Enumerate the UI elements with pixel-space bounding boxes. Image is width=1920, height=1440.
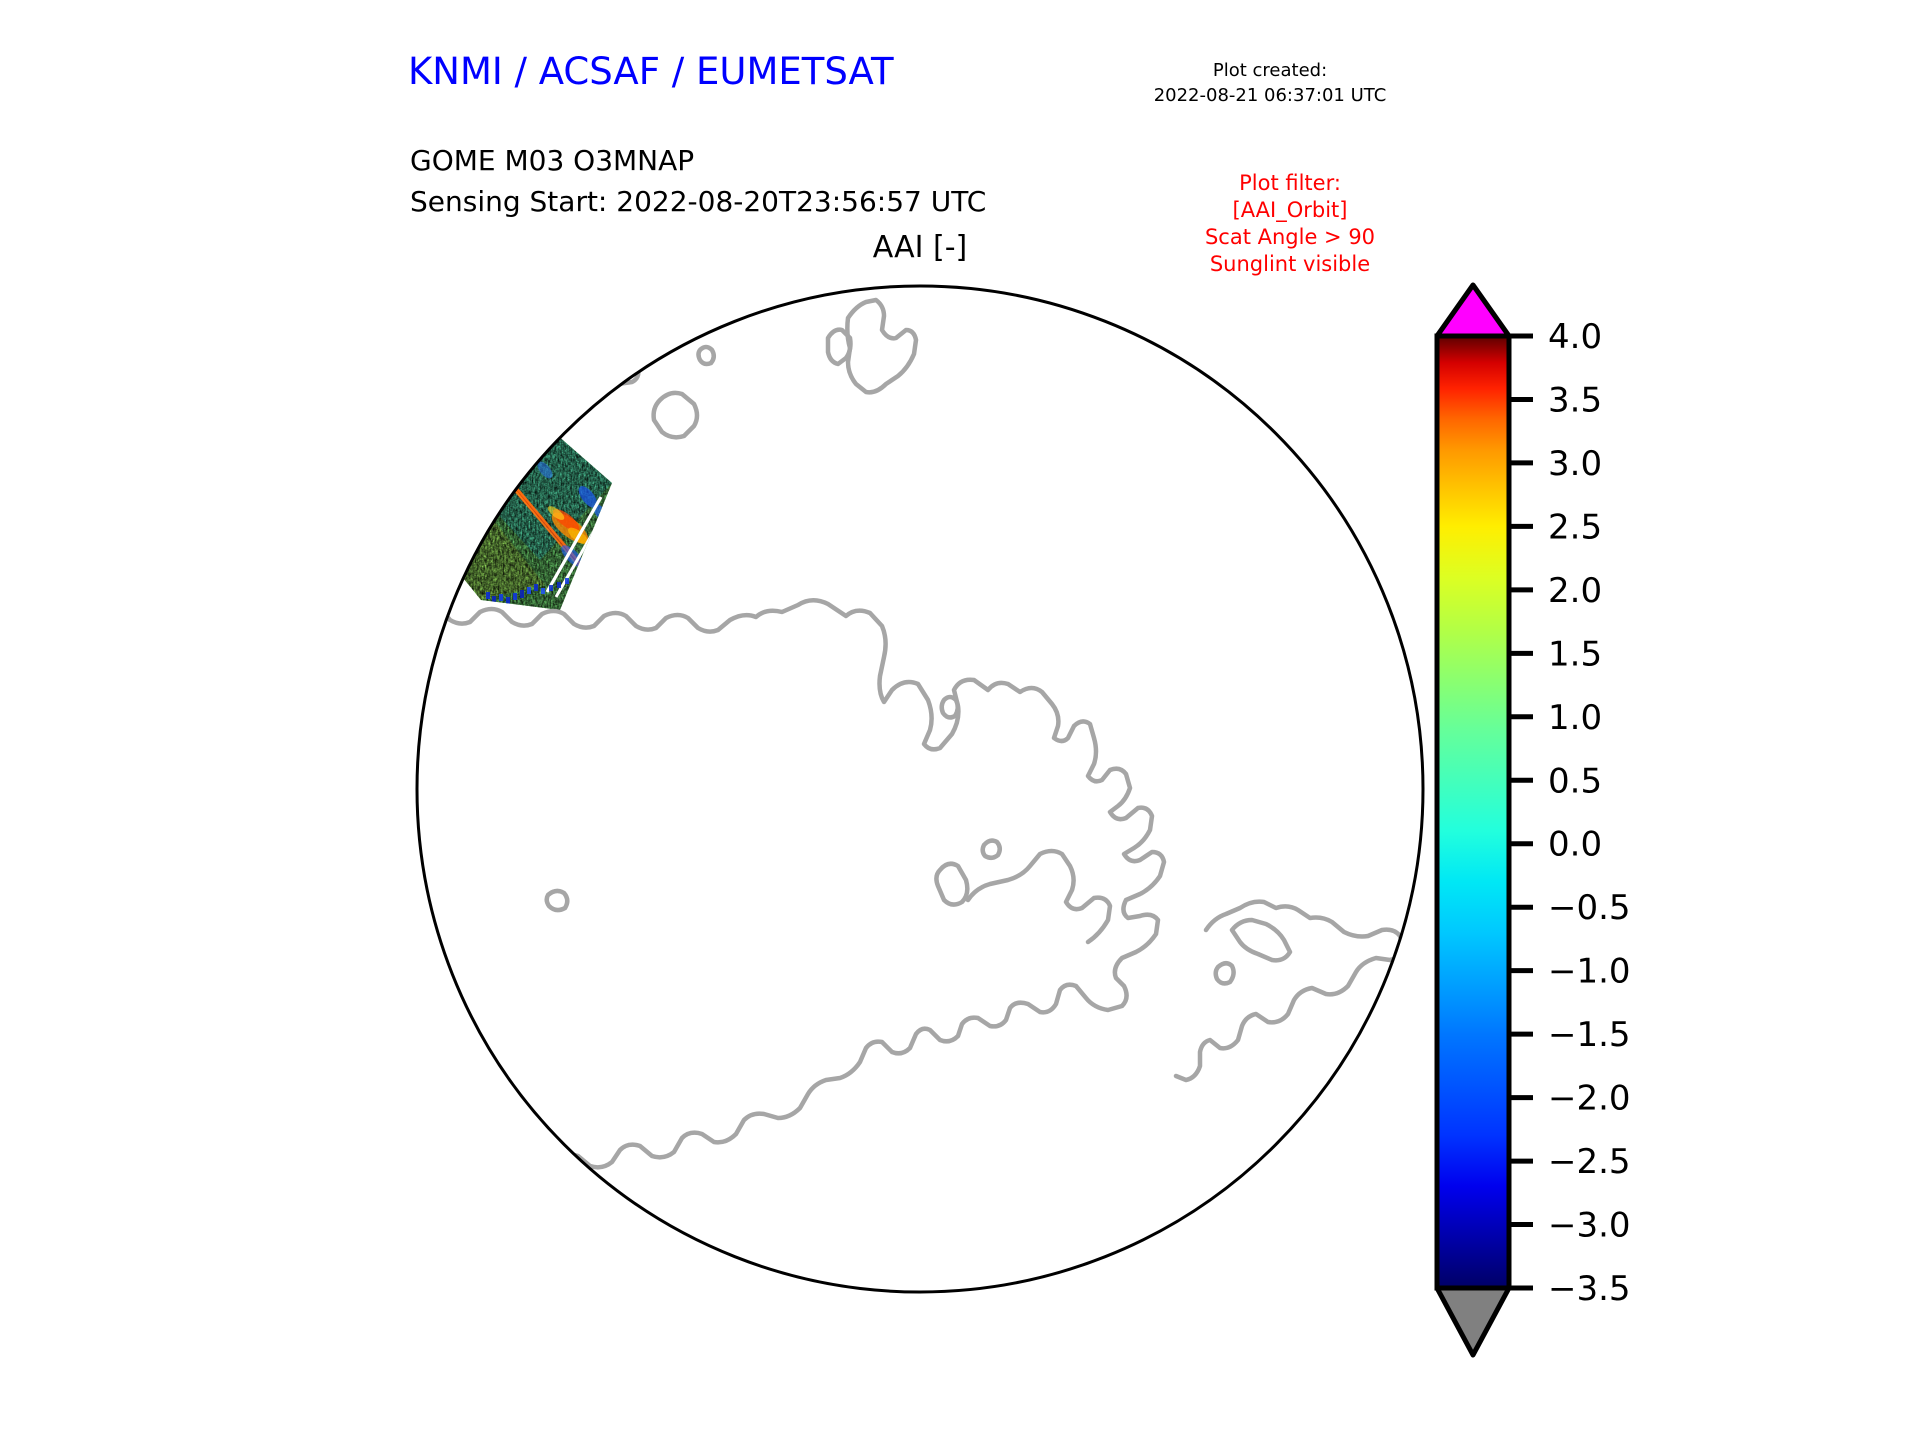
colorbar-tick-label: −2.5	[1548, 1142, 1631, 1182]
colorbar-tick-label: −1.5	[1548, 1015, 1631, 1055]
colorbar-tick-label: −3.5	[1548, 1269, 1631, 1309]
colorbar-ticks: 4.03.53.02.52.01.51.00.50.0−0.5−1.0−1.5−…	[1509, 317, 1631, 1309]
colorbar-tick-label: −2.0	[1548, 1079, 1631, 1119]
colorbar-tick-label: 0.5	[1548, 761, 1602, 801]
colorbar-tick-label: −0.5	[1548, 888, 1631, 928]
globe-disc	[417, 286, 1423, 1292]
plot-canvas: KNMI / ACSAF / EUMETSAT Plot created: 20…	[0, 0, 1920, 1440]
colorbar: 4.03.53.02.52.01.51.00.50.0−0.5−1.0−1.5−…	[1420, 270, 1840, 1380]
colorbar-tick-label: −3.0	[1548, 1206, 1631, 1246]
colorbar-tick-label: 2.0	[1548, 571, 1602, 611]
colorbar-tick-label: 0.0	[1548, 825, 1602, 865]
colorbar-tick-label: 3.5	[1548, 380, 1602, 420]
colorbar-tick-label: 1.0	[1548, 698, 1602, 738]
colorbar-tick-label: 2.5	[1548, 507, 1602, 547]
colorbar-tick-label: −1.0	[1548, 952, 1631, 992]
colorbar-tick-label: 3.0	[1548, 444, 1602, 484]
colorbar-gradient	[1437, 336, 1509, 1288]
coastline-upper-left-landmass	[600, 355, 638, 384]
colorbar-tick-label: 1.5	[1548, 634, 1602, 674]
colorbar-over-arrow	[1437, 285, 1509, 336]
colorbar-tick-label: 4.0	[1548, 317, 1602, 357]
colorbar-under-arrow	[1437, 1288, 1509, 1355]
